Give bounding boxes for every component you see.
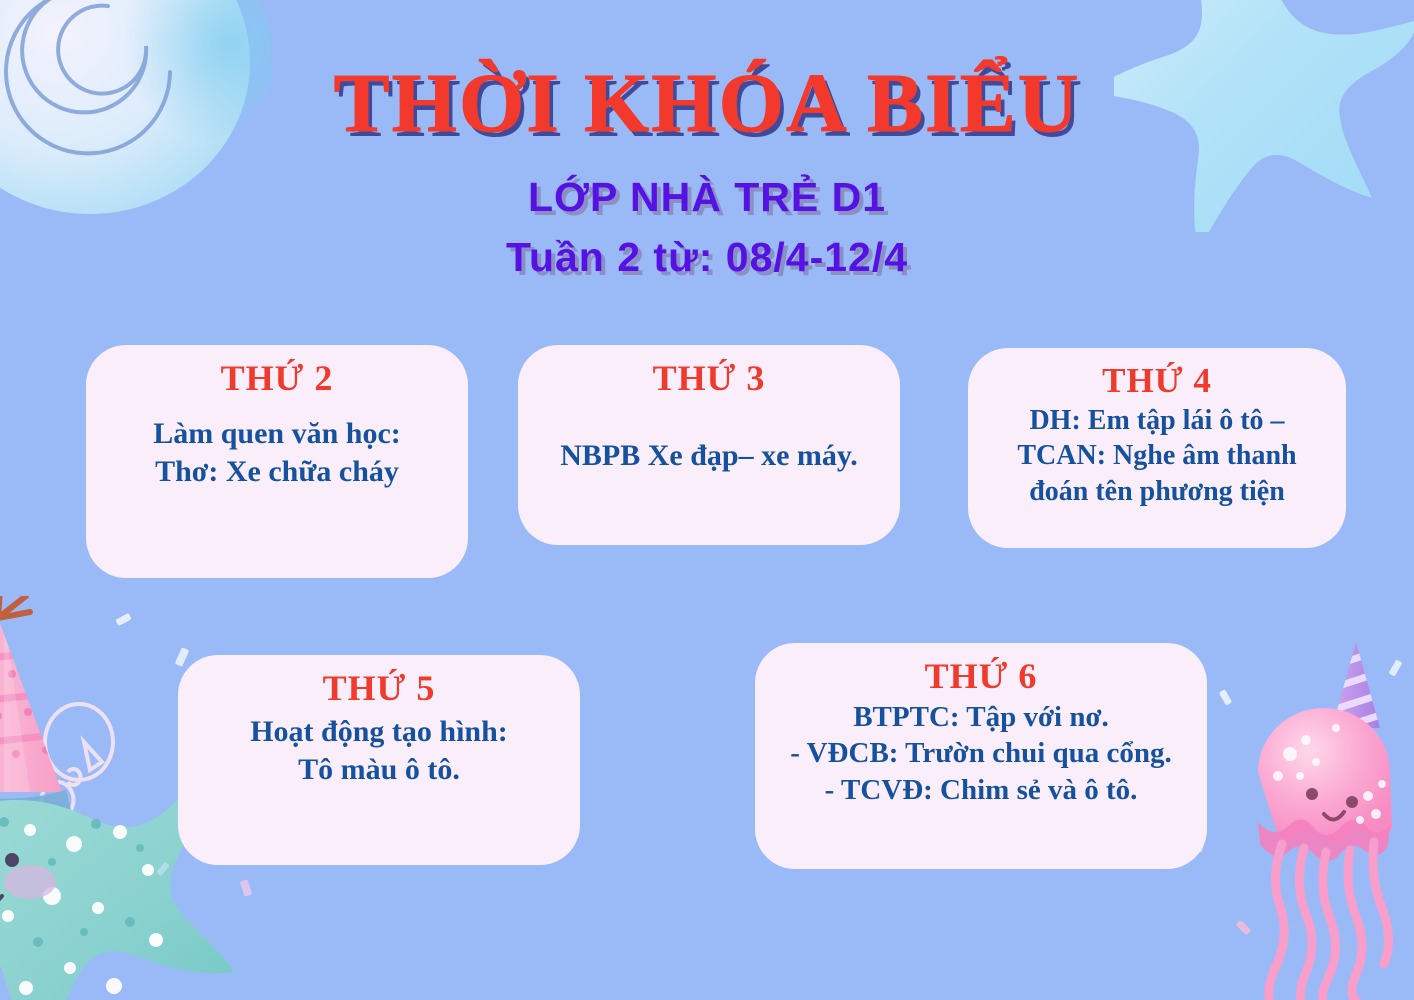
- confetti-bit: [1388, 659, 1402, 676]
- week-subtitle: Tuần 2 từ: 08/4-12/4: [0, 232, 1414, 282]
- day-card-activities: Làm quen văn học: Thơ: Xe chữa cháy: [153, 415, 401, 491]
- day-card-wednesday[interactable]: THỨ 4 DH: Em tập lái ô tô – TCAN: Nghe â…: [968, 348, 1346, 548]
- day-card-activities: BTPTC: Tập với nơ. - VĐCB: Trườn chui qu…: [790, 699, 1172, 809]
- activity-line: - TCVĐ: Chim sẻ và ô tô.: [790, 772, 1172, 809]
- activity-line: đoán tên phương tiện: [1017, 474, 1296, 510]
- jellyfish-party-hat-icon: [1248, 636, 1414, 1000]
- activity-line: DH: Em tập lái ô tô –: [1017, 403, 1296, 439]
- activity-line: Tô màu ô tô.: [250, 751, 508, 789]
- day-card-tuesday[interactable]: THỨ 3 NBPB Xe đạp– xe máy.: [518, 345, 900, 545]
- day-card-activities: NBPB Xe đạp– xe máy.: [560, 437, 858, 475]
- activity-line: NBPB Xe đạp– xe máy.: [560, 437, 858, 475]
- day-card-title: THỨ 6: [925, 657, 1038, 697]
- day-card-activities: Hoạt động tạo hình: Tô màu ô tô.: [250, 713, 508, 789]
- schedule-poster: THỜI KHÓA BIỂU LỚP NHÀ TRẺ D1 Tuần 2 từ:…: [0, 0, 1414, 1000]
- day-card-monday[interactable]: THỨ 2 Làm quen văn học: Thơ: Xe chữa chá…: [86, 345, 468, 578]
- activity-line: TCAN: Nghe âm thanh: [1017, 438, 1296, 474]
- activity-line: BTPTC: Tập với nơ.: [790, 699, 1172, 736]
- day-card-title: THỨ 4: [1102, 362, 1212, 401]
- class-subtitle: LỚP NHÀ TRẺ D1: [0, 172, 1414, 222]
- confetti-bit: [1236, 920, 1252, 935]
- day-card-title: THỨ 2: [221, 359, 334, 399]
- day-card-title: THỨ 5: [323, 669, 436, 709]
- page-title: THỜI KHÓA BIỂU: [0, 62, 1414, 146]
- confetti-bit: [1219, 689, 1233, 705]
- confetti-bit: [240, 879, 253, 897]
- activity-line: Thơ: Xe chữa cháy: [153, 453, 401, 491]
- confetti-bit: [175, 647, 190, 667]
- poster-header: THỜI KHÓA BIỂU LỚP NHÀ TRẺ D1 Tuần 2 từ:…: [0, 62, 1414, 282]
- confetti-bit: [115, 613, 132, 626]
- day-card-thursday[interactable]: THỨ 5 Hoạt động tạo hình: Tô màu ô tô.: [178, 655, 580, 865]
- activity-line: Hoạt động tạo hình:: [250, 713, 508, 751]
- activity-line: Làm quen văn học:: [153, 415, 401, 453]
- day-card-friday[interactable]: THỨ 6 BTPTC: Tập với nơ. - VĐCB: Trườn c…: [755, 643, 1207, 869]
- activity-line: - VĐCB: Trườn chui qua cổng.: [790, 735, 1172, 772]
- day-card-title: THỨ 3: [653, 359, 766, 399]
- confetti-bit: [156, 862, 170, 877]
- day-card-activities: DH: Em tập lái ô tô – TCAN: Nghe âm than…: [1017, 403, 1296, 510]
